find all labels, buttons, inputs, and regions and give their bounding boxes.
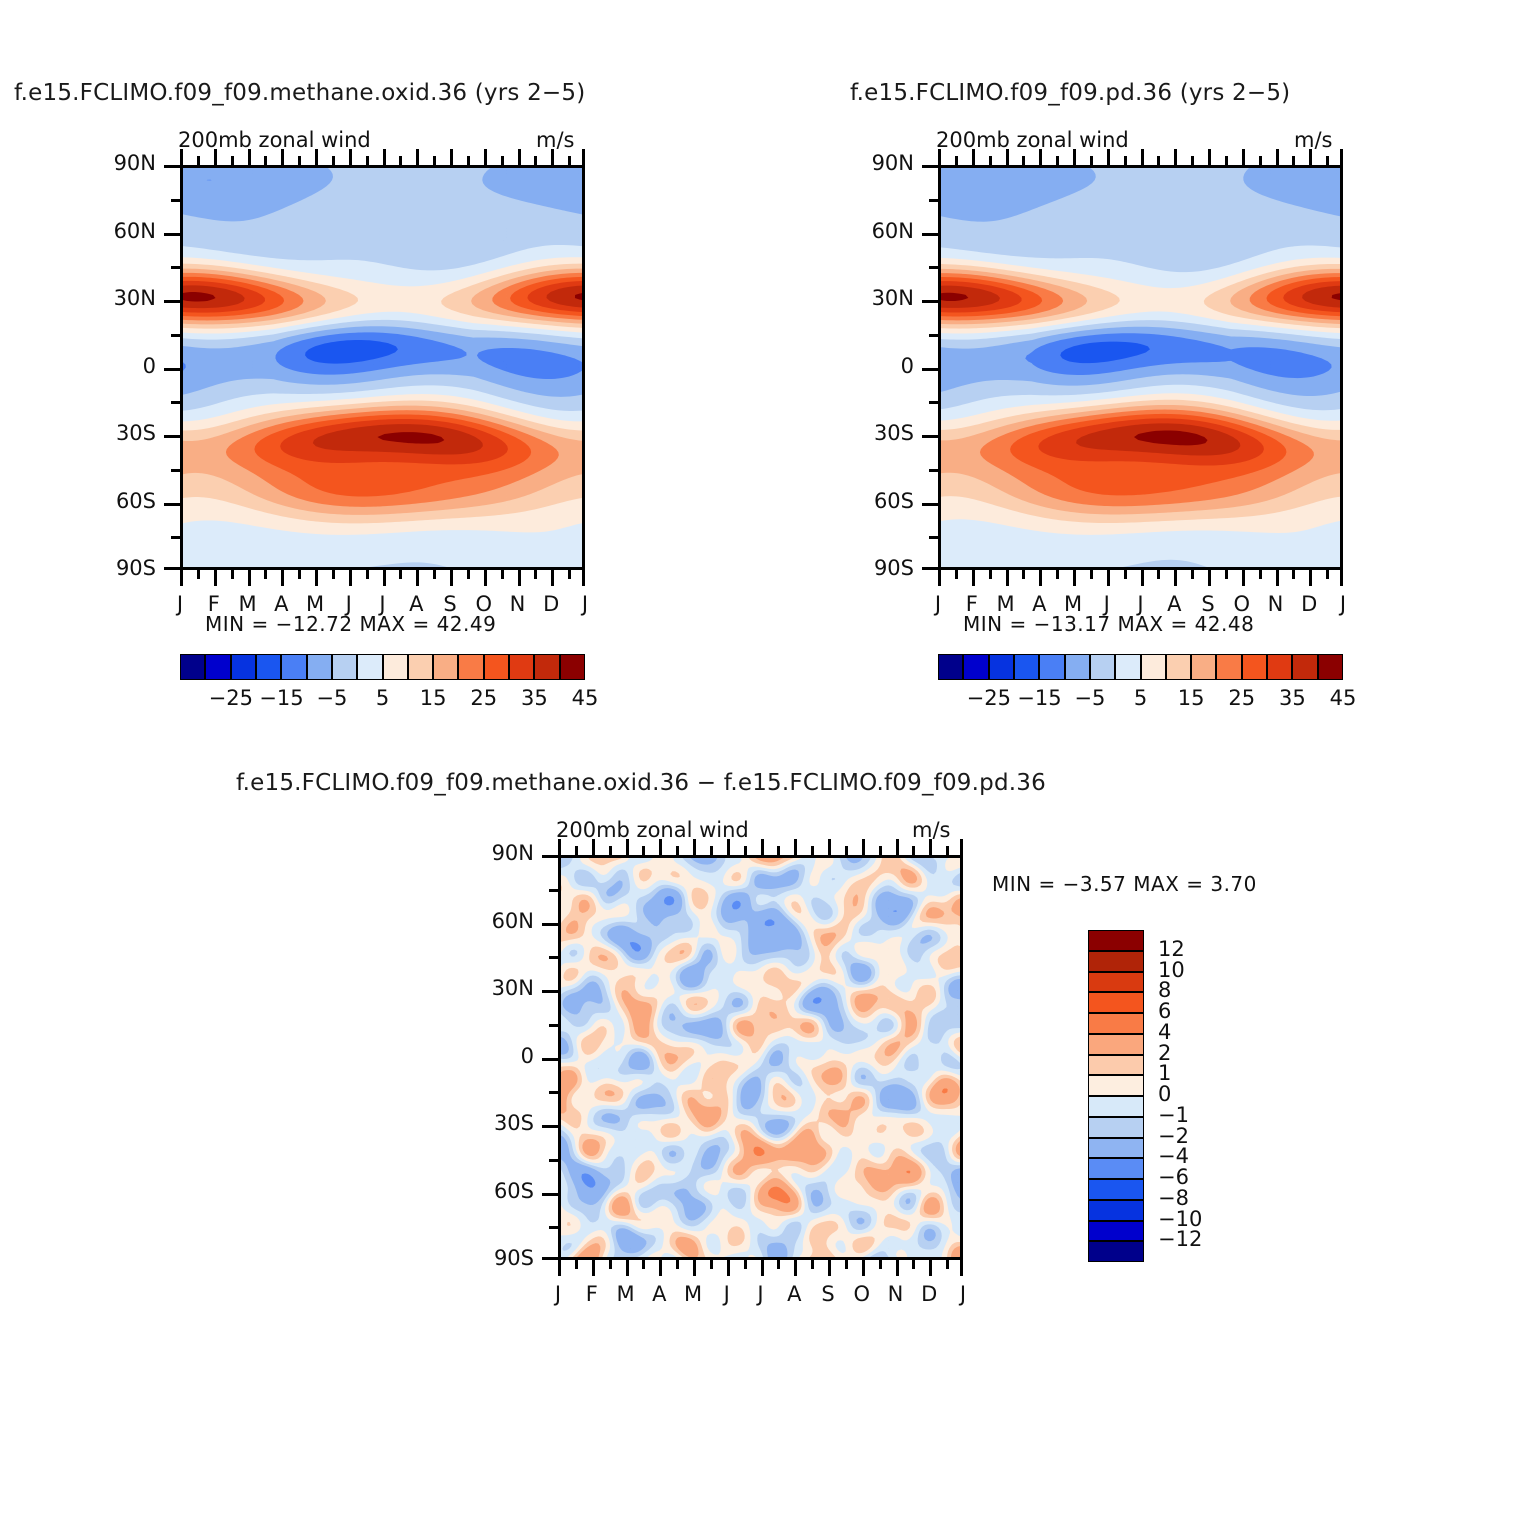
colorbar-tick-label: 25	[462, 686, 506, 710]
x-axis-top-major-tick	[582, 149, 585, 165]
colorbar-swatch	[1088, 1138, 1144, 1159]
colorbar-swatch	[1039, 654, 1064, 680]
x-axis-bottom-minor-tick	[1157, 570, 1160, 579]
x-axis-bottom-major-tick	[383, 570, 386, 586]
y-axis-minor-tick	[171, 334, 180, 337]
x-axis-bottom-major-tick	[1208, 570, 1211, 586]
x-axis-bottom-minor-tick	[912, 1260, 915, 1269]
y-axis-major-tick	[922, 567, 938, 570]
x-axis-bottom-major-tick	[1242, 570, 1245, 586]
x-axis-top-minor-tick	[433, 156, 436, 165]
colorbar-swatch	[1318, 654, 1343, 680]
minmax-top-left: MIN = −12.72 MAX = 42.49	[205, 612, 496, 636]
x-axis-bottom-major-tick	[727, 1260, 730, 1276]
x-axis-top-minor-tick	[332, 156, 335, 165]
y-axis-major-tick	[164, 368, 180, 371]
x-axis-top-major-tick	[281, 149, 284, 165]
y-axis-minor-tick	[171, 266, 180, 269]
x-axis-bottom-minor-tick	[1056, 570, 1059, 579]
colorbar-swatch	[938, 654, 963, 680]
y-axis-minor-tick	[929, 401, 938, 404]
colorbar-top-left[interactable]	[180, 654, 585, 680]
x-axis-bottom-minor-tick	[1225, 570, 1228, 579]
colorbar-swatch	[1088, 1013, 1144, 1034]
x-axis-bottom-minor-tick	[501, 570, 504, 579]
colorbar-swatch	[205, 654, 230, 680]
y-axis-label: 0	[842, 354, 914, 378]
colorbar-swatch	[1088, 1221, 1144, 1242]
x-axis-top-minor-tick	[1225, 156, 1228, 165]
y-axis-label: 60N	[84, 219, 156, 243]
x-axis-bottom-major-tick	[248, 570, 251, 586]
colorbar-swatch	[1191, 654, 1216, 680]
x-axis-bottom-major-tick	[693, 1260, 696, 1276]
y-axis-major-tick	[542, 1257, 558, 1260]
y-axis-major-tick	[542, 855, 558, 858]
x-axis-bottom-major-tick	[450, 570, 453, 586]
minmax-difference: MIN = −3.57 MAX = 3.70	[992, 872, 1257, 896]
x-axis-top-major-tick	[659, 839, 662, 855]
x-axis-bottom-minor-tick	[433, 570, 436, 579]
colorbar-swatch	[256, 654, 281, 680]
y-axis-major-tick	[164, 300, 180, 303]
y-axis-minor-tick	[549, 1226, 558, 1229]
y-axis-label: 60S	[84, 489, 156, 513]
y-axis-major-tick	[922, 165, 938, 168]
x-axis-bottom-minor-tick	[609, 1260, 612, 1269]
x-axis-top-minor-tick	[575, 846, 578, 855]
x-axis-top-major-tick	[484, 149, 487, 165]
x-axis-top-major-tick	[693, 839, 696, 855]
panel-header-left-difference: 200mb zonal wind	[556, 818, 749, 842]
colorbar-swatch	[1088, 1179, 1144, 1200]
x-axis-bottom-major-tick	[315, 570, 318, 586]
x-axis-bottom-minor-tick	[298, 570, 301, 579]
colorbar-swatch	[281, 654, 306, 680]
colorbar-swatch	[332, 654, 357, 680]
x-axis-top-minor-tick	[1157, 156, 1160, 165]
x-axis-top-minor-tick	[534, 156, 537, 165]
panel-title-top-left: f.e15.FCLIMO.f09_f09.methane.oxid.36 (yr…	[14, 80, 585, 106]
y-axis-major-tick	[922, 233, 938, 236]
x-axis-bottom-major-tick	[558, 1260, 561, 1276]
x-axis-top-minor-tick	[1124, 156, 1127, 165]
x-axis-bottom-minor-tick	[989, 570, 992, 579]
x-axis-top-major-tick	[1174, 149, 1177, 165]
y-axis-major-tick	[164, 435, 180, 438]
x-axis-top-major-tick	[518, 149, 521, 165]
y-axis-major-tick	[542, 1193, 558, 1196]
y-axis-label: 60S	[842, 489, 914, 513]
colorbar-tick-label: 35	[1270, 686, 1314, 710]
colorbar-swatch	[307, 654, 332, 680]
y-axis-minor-tick	[549, 1024, 558, 1027]
panel-header-units-top-left: m/s	[536, 128, 574, 152]
x-axis-bottom-major-tick	[828, 1260, 831, 1276]
colorbar-tick-label: −5	[310, 686, 354, 710]
x-axis-top-major-tick	[960, 839, 963, 855]
contour-field	[183, 168, 582, 567]
y-axis-major-tick	[164, 503, 180, 506]
x-axis-bottom-major-tick	[1006, 570, 1009, 586]
x-axis-top-minor-tick	[366, 156, 369, 165]
x-axis-bottom-major-tick	[938, 570, 941, 586]
y-axis-minor-tick	[929, 266, 938, 269]
x-axis-bottom-minor-tick	[1326, 570, 1329, 579]
colorbar-swatch	[1088, 1096, 1144, 1117]
x-axis-bottom-major-tick	[180, 570, 183, 586]
y-axis-label: 0	[84, 354, 156, 378]
colorbar-swatch	[1115, 654, 1140, 680]
panel-header-units-top-right: m/s	[1294, 128, 1332, 152]
x-axis-bottom-minor-tick	[197, 570, 200, 579]
y-axis-minor-tick	[171, 199, 180, 202]
colorbar-strip	[938, 654, 1343, 680]
colorbar-swatch	[1088, 1075, 1144, 1096]
y-axis-major-tick	[164, 567, 180, 570]
colorbar-swatch	[989, 654, 1014, 680]
x-axis-bottom-minor-tick	[1191, 570, 1194, 579]
x-axis-bottom-major-tick	[862, 1260, 865, 1276]
x-axis-bottom-minor-tick	[1292, 570, 1295, 579]
x-axis-bottom-major-tick	[761, 1260, 764, 1276]
colorbar-swatch	[1088, 1117, 1144, 1138]
x-axis-top-major-tick	[248, 149, 251, 165]
colorbar-top-right[interactable]	[938, 654, 1343, 680]
x-axis-bottom-major-tick	[1039, 570, 1042, 586]
x-axis-top-minor-tick	[1326, 156, 1329, 165]
colorbar-swatch	[1014, 654, 1039, 680]
x-axis-top-minor-tick	[912, 846, 915, 855]
x-axis-top-minor-tick	[1191, 156, 1194, 165]
y-axis-label: 60N	[842, 219, 914, 243]
x-axis-top-major-tick	[558, 839, 561, 855]
colorbar-swatch	[1088, 972, 1144, 993]
colorbar-swatch	[458, 654, 483, 680]
colorbar-swatch	[1242, 654, 1267, 680]
x-axis-bottom-major-tick	[960, 1260, 963, 1276]
x-axis-bottom-major-tick	[518, 570, 521, 586]
x-axis-bottom-major-tick	[896, 1260, 899, 1276]
x-axis-top-minor-tick	[955, 156, 958, 165]
x-axis-bottom-major-tick	[1340, 570, 1343, 586]
colorbar-swatch	[1065, 654, 1090, 680]
x-axis-month-label: J	[565, 592, 605, 616]
y-axis-label: 60S	[462, 1179, 534, 1203]
y-axis-label: 30N	[462, 976, 534, 1000]
x-axis-bottom-major-tick	[484, 570, 487, 586]
y-axis-label: 30N	[842, 286, 914, 310]
panel-header-left-top-right: 200mb zonal wind	[936, 128, 1129, 152]
x-axis-top-minor-tick	[777, 846, 780, 855]
x-axis-bottom-minor-tick	[467, 570, 470, 579]
x-axis-top-minor-tick	[1090, 156, 1093, 165]
x-axis-bottom-minor-tick	[642, 1260, 645, 1269]
x-axis-top-minor-tick	[231, 156, 234, 165]
x-axis-bottom-major-tick	[794, 1260, 797, 1276]
panel-header-left-top-left: 200mb zonal wind	[178, 128, 371, 152]
x-axis-top-minor-tick	[989, 156, 992, 165]
y-axis-label: 60N	[462, 909, 534, 933]
x-axis-top-major-tick	[862, 839, 865, 855]
x-axis-bottom-minor-tick	[231, 570, 234, 579]
x-axis-bottom-major-tick	[1309, 570, 1312, 586]
x-axis-top-major-tick	[626, 839, 629, 855]
x-axis-top-minor-tick	[467, 156, 470, 165]
x-axis-bottom-major-tick	[1141, 570, 1144, 586]
colorbar-labels-top-left: −25−15−5515253545	[180, 686, 585, 714]
contour-field	[941, 168, 1340, 567]
colorbar-swatch	[534, 654, 559, 680]
x-axis-bottom-minor-tick	[332, 570, 335, 579]
x-axis-top-minor-tick	[1292, 156, 1295, 165]
colorbar-tick-label: −25	[967, 686, 1011, 710]
y-axis-label: 30S	[84, 421, 156, 445]
contour-plot-top-right[interactable]: 90N60N30N030S60S90SJFMAMJJASONDJ	[938, 165, 1343, 570]
x-axis-top-major-tick	[1006, 149, 1009, 165]
x-axis-bottom-minor-tick	[1022, 570, 1025, 579]
x-axis-top-major-tick	[1208, 149, 1211, 165]
x-axis-bottom-minor-tick	[710, 1260, 713, 1269]
minmax-top-right: MIN = −13.17 MAX = 42.48	[963, 612, 1254, 636]
x-axis-bottom-minor-tick	[744, 1260, 747, 1269]
x-axis-top-minor-tick	[264, 156, 267, 165]
x-axis-bottom-major-tick	[659, 1260, 662, 1276]
x-axis-month-label: J	[1323, 592, 1363, 616]
y-axis-minor-tick	[171, 469, 180, 472]
x-axis-bottom-major-tick	[972, 570, 975, 586]
x-axis-top-major-tick	[551, 149, 554, 165]
y-axis-label: 90S	[842, 556, 914, 580]
y-axis-minor-tick	[929, 469, 938, 472]
colorbar-tick-label: −25	[209, 686, 253, 710]
colorbar-tick-label: 5	[1119, 686, 1163, 710]
x-axis-top-major-tick	[315, 149, 318, 165]
y-axis-minor-tick	[549, 1159, 558, 1162]
x-axis-top-major-tick	[1340, 149, 1343, 165]
y-axis-label: 30S	[842, 421, 914, 445]
x-axis-bottom-minor-tick	[264, 570, 267, 579]
x-axis-top-major-tick	[828, 839, 831, 855]
y-axis-major-tick	[922, 368, 938, 371]
colorbar-tick-label: 45	[563, 686, 607, 710]
y-axis-minor-tick	[929, 536, 938, 539]
x-axis-top-minor-tick	[845, 846, 848, 855]
x-axis-top-major-tick	[1309, 149, 1312, 165]
x-axis-top-major-tick	[214, 149, 217, 165]
colorbar-swatch	[1166, 654, 1191, 680]
x-axis-bottom-minor-tick	[366, 570, 369, 579]
colorbar-swatch	[1090, 654, 1115, 680]
x-axis-top-major-tick	[180, 149, 183, 165]
x-axis-top-minor-tick	[676, 846, 679, 855]
colorbar-swatch	[1141, 654, 1166, 680]
y-axis-minor-tick	[549, 1091, 558, 1094]
x-axis-bottom-minor-tick	[845, 1260, 848, 1269]
x-axis-top-major-tick	[1107, 149, 1110, 165]
y-axis-major-tick	[922, 503, 938, 506]
x-axis-top-major-tick	[1073, 149, 1076, 165]
colorbar-strip	[1088, 930, 1144, 1262]
colorbar-strip	[180, 654, 585, 680]
x-axis-top-minor-tick	[1259, 156, 1262, 165]
x-axis-top-major-tick	[1141, 149, 1144, 165]
y-axis-minor-tick	[171, 536, 180, 539]
colorbar-swatch	[433, 654, 458, 680]
x-axis-bottom-minor-tick	[1259, 570, 1262, 579]
colorbar-tick-label: 25	[1220, 686, 1264, 710]
colorbar-swatch	[357, 654, 382, 680]
x-axis-bottom-major-tick	[214, 570, 217, 586]
x-axis-top-major-tick	[416, 149, 419, 165]
x-axis-top-major-tick	[896, 839, 899, 855]
y-axis-minor-tick	[549, 956, 558, 959]
x-axis-top-major-tick	[383, 149, 386, 165]
y-axis-minor-tick	[171, 401, 180, 404]
x-axis-bottom-major-tick	[349, 570, 352, 586]
colorbar-swatch	[509, 654, 534, 680]
x-axis-top-major-tick	[794, 839, 797, 855]
x-axis-top-minor-tick	[642, 846, 645, 855]
y-axis-label: 90N	[84, 151, 156, 175]
x-axis-bottom-major-tick	[929, 1260, 932, 1276]
x-axis-top-major-tick	[450, 149, 453, 165]
x-axis-bottom-minor-tick	[399, 570, 402, 579]
x-axis-bottom-minor-tick	[534, 570, 537, 579]
x-axis-top-major-tick	[1242, 149, 1245, 165]
colorbar-swatch	[1088, 951, 1144, 972]
x-axis-bottom-major-tick	[592, 1260, 595, 1276]
y-axis-label: 90S	[84, 556, 156, 580]
x-axis-top-major-tick	[592, 839, 595, 855]
colorbar-tick-label: −15	[1017, 686, 1061, 710]
x-axis-bottom-minor-tick	[811, 1260, 814, 1269]
x-axis-top-major-tick	[1276, 149, 1279, 165]
colorbar-tick-label: −5	[1068, 686, 1112, 710]
x-axis-bottom-minor-tick	[568, 570, 571, 579]
colorbar-tick-label: 45	[1321, 686, 1365, 710]
y-axis-major-tick	[922, 435, 938, 438]
x-axis-bottom-minor-tick	[955, 570, 958, 579]
x-axis-bottom-minor-tick	[1124, 570, 1127, 579]
colorbar-swatch	[1088, 1055, 1144, 1076]
colorbar-swatch	[1088, 1158, 1144, 1179]
y-axis-major-tick	[542, 1058, 558, 1061]
plot-frame	[938, 165, 1343, 570]
plot-frame	[180, 165, 585, 570]
x-axis-top-minor-tick	[298, 156, 301, 165]
colorbar-swatch	[1088, 992, 1144, 1013]
y-axis-major-tick	[542, 990, 558, 993]
y-axis-major-tick	[542, 1125, 558, 1128]
colorbar-tick-label: −15	[259, 686, 303, 710]
plot-frame	[558, 855, 963, 1260]
colorbar-swatch	[560, 654, 585, 680]
y-axis-label: 30N	[84, 286, 156, 310]
y-axis-major-tick	[542, 923, 558, 926]
colorbar-swatch	[484, 654, 509, 680]
x-axis-top-minor-tick	[501, 156, 504, 165]
colorbar-difference[interactable]	[1088, 930, 1144, 1262]
x-axis-bottom-minor-tick	[946, 1260, 949, 1269]
y-axis-minor-tick	[549, 889, 558, 892]
x-axis-top-major-tick	[349, 149, 352, 165]
y-axis-minor-tick	[929, 199, 938, 202]
colorbar-swatch	[1292, 654, 1317, 680]
colorbar-tick-label: 15	[411, 686, 455, 710]
colorbar-swatch	[231, 654, 256, 680]
colorbar-tick-label: 5	[361, 686, 405, 710]
x-axis-bottom-major-tick	[551, 570, 554, 586]
colorbar-swatch	[1088, 1200, 1144, 1221]
colorbar-swatch	[408, 654, 433, 680]
x-axis-bottom-minor-tick	[777, 1260, 780, 1269]
contour-field	[561, 858, 960, 1257]
x-axis-top-minor-tick	[946, 846, 949, 855]
x-axis-bottom-major-tick	[1073, 570, 1076, 586]
x-axis-bottom-minor-tick	[1090, 570, 1093, 579]
x-axis-bottom-minor-tick	[575, 1260, 578, 1269]
colorbar-tick-label: 35	[512, 686, 556, 710]
x-axis-top-major-tick	[1039, 149, 1042, 165]
x-axis-top-minor-tick	[1022, 156, 1025, 165]
colorbar-tick-label: 15	[1169, 686, 1213, 710]
x-axis-month-label: J	[943, 1282, 983, 1306]
colorbar-swatch	[963, 654, 988, 680]
x-axis-top-minor-tick	[609, 846, 612, 855]
x-axis-top-major-tick	[727, 839, 730, 855]
x-axis-bottom-major-tick	[1276, 570, 1279, 586]
x-axis-bottom-major-tick	[1107, 570, 1110, 586]
x-axis-bottom-major-tick	[1174, 570, 1177, 586]
x-axis-top-minor-tick	[811, 846, 814, 855]
y-axis-label: 30S	[462, 1111, 534, 1135]
colorbar-labels-difference: 1210864210−1−2−4−6−8−10−12	[1152, 930, 1222, 1262]
y-axis-label: 0	[462, 1044, 534, 1068]
y-axis-minor-tick	[929, 334, 938, 337]
x-axis-bottom-major-tick	[626, 1260, 629, 1276]
x-axis-top-major-tick	[972, 149, 975, 165]
x-axis-top-major-tick	[929, 839, 932, 855]
x-axis-bottom-major-tick	[416, 570, 419, 586]
colorbar-tick-label: −12	[1158, 1227, 1218, 1251]
x-axis-top-major-tick	[761, 839, 764, 855]
colorbar-swatch	[383, 654, 408, 680]
x-axis-bottom-minor-tick	[676, 1260, 679, 1269]
x-axis-top-minor-tick	[197, 156, 200, 165]
x-axis-bottom-major-tick	[281, 570, 284, 586]
y-axis-major-tick	[164, 165, 180, 168]
x-axis-top-major-tick	[938, 149, 941, 165]
colorbar-labels-top-right: −25−15−5515253545	[938, 686, 1343, 714]
panel-title-top-right: f.e15.FCLIMO.f09_f09.pd.36 (yrs 2−5)	[850, 80, 1290, 106]
colorbar-swatch	[1088, 930, 1144, 951]
contour-plot-top-left[interactable]: 90N60N30N030S60S90SJFMAMJJASONDJ	[180, 165, 585, 570]
y-axis-major-tick	[922, 300, 938, 303]
colorbar-swatch	[1216, 654, 1241, 680]
y-axis-label: 90N	[462, 841, 534, 865]
x-axis-top-minor-tick	[744, 846, 747, 855]
y-axis-label: 90N	[842, 151, 914, 175]
x-axis-top-minor-tick	[879, 846, 882, 855]
x-axis-top-minor-tick	[399, 156, 402, 165]
x-axis-top-minor-tick	[710, 846, 713, 855]
y-axis-label: 90S	[462, 1246, 534, 1270]
colorbar-swatch	[180, 654, 205, 680]
colorbar-swatch	[1088, 1241, 1144, 1262]
contour-plot-difference[interactable]: 90N60N30N030S60S90SJFMAMJJASONDJ	[558, 855, 963, 1260]
x-axis-top-minor-tick	[568, 156, 571, 165]
